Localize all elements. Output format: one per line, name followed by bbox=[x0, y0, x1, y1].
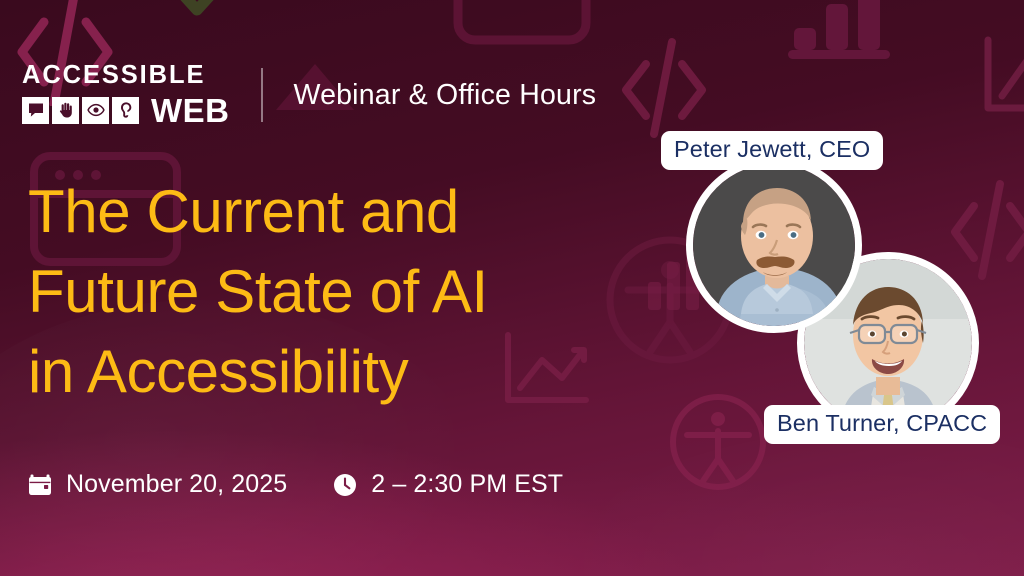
event-time: 2 – 2:30 PM EST bbox=[331, 470, 563, 499]
calendar-icon bbox=[26, 471, 54, 499]
header-divider bbox=[261, 68, 263, 122]
headline-line-3: in Accessibility bbox=[28, 332, 488, 412]
accessible-web-logo[interactable]: ACCESSIBLE bbox=[22, 63, 230, 127]
avatar bbox=[686, 157, 862, 333]
speech-bubble-icon bbox=[22, 97, 49, 124]
page-title: The Current and Future State of AI in Ac… bbox=[28, 172, 488, 411]
clock-icon bbox=[331, 471, 359, 499]
hand-icon bbox=[52, 97, 79, 124]
ear-icon bbox=[112, 97, 139, 124]
background-glow-right bbox=[560, 430, 1024, 576]
logo-line-web: WEB bbox=[151, 94, 230, 127]
event-meta: November 20, 2025 2 – 2:30 PM EST bbox=[26, 470, 563, 499]
headline-line-2: Future State of AI bbox=[28, 252, 488, 332]
bar-chart-icon bbox=[786, 0, 908, 60]
rounded-rect-icon bbox=[452, 0, 592, 46]
line-chart-icon bbox=[500, 330, 592, 410]
speaker-name-badge: Ben Turner, CPACC bbox=[764, 405, 1000, 444]
headline-line-1: The Current and bbox=[28, 172, 488, 252]
accessibility-person-icon bbox=[666, 390, 770, 494]
logo-line-accessible: ACCESSIBLE bbox=[22, 63, 230, 89]
checkmark-icon bbox=[158, 0, 236, 32]
event-date-text: November 20, 2025 bbox=[66, 470, 287, 499]
event-time-text: 2 – 2:30 PM EST bbox=[371, 470, 563, 499]
speaker-name-badge: Peter Jewett, CEO bbox=[661, 131, 883, 170]
eye-icon bbox=[82, 97, 109, 124]
code-brackets-icon bbox=[616, 34, 712, 138]
peter-jewett-headshot bbox=[693, 164, 855, 326]
brand-header: ACCESSIBLE bbox=[22, 60, 596, 130]
code-brackets-icon bbox=[946, 176, 1024, 280]
header-tagline: Webinar & Office Hours bbox=[294, 79, 597, 112]
event-date: November 20, 2025 bbox=[26, 470, 287, 499]
webinar-promo-canvas: ACCESSIBLE bbox=[0, 0, 1024, 576]
line-chart-icon bbox=[978, 34, 1024, 120]
